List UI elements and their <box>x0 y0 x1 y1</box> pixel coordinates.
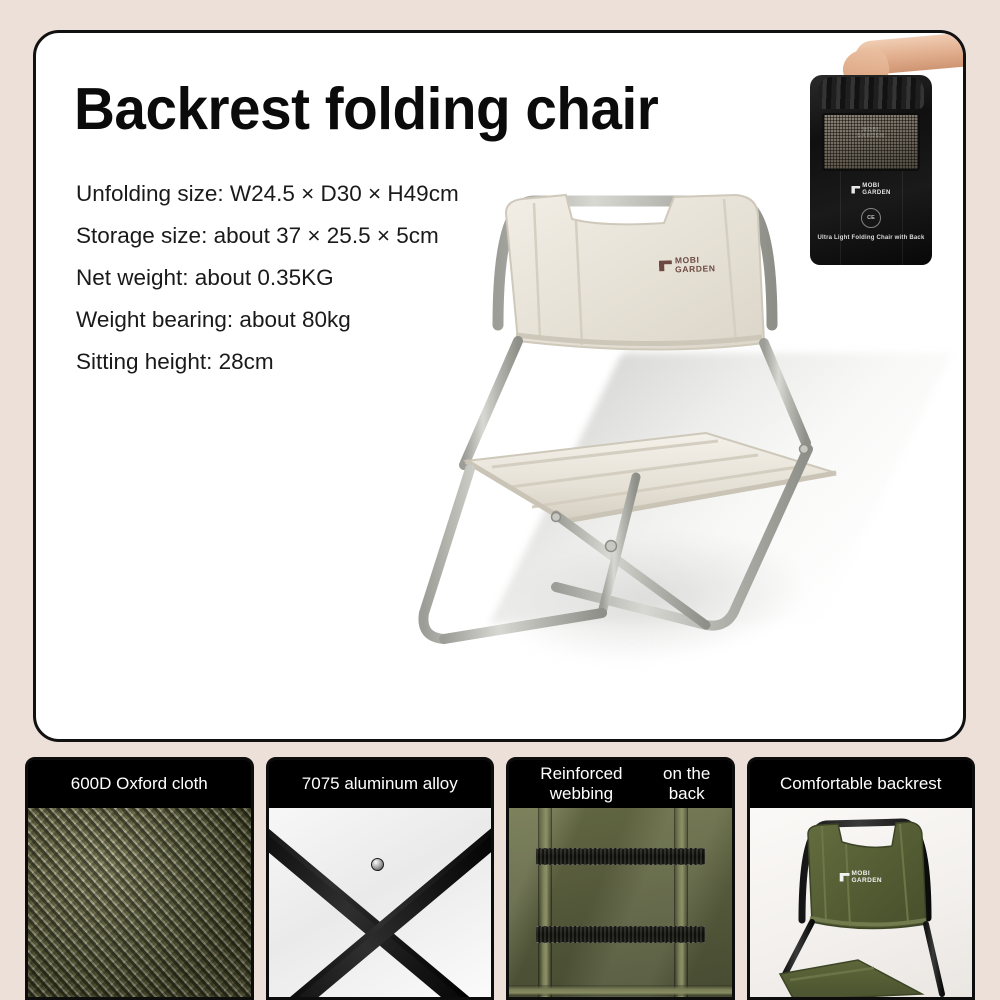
chair-brand-logo: MOBI GARDEN <box>659 255 716 274</box>
rivet-icon <box>371 858 384 871</box>
panel-oxford-cloth: 600D Oxford cloth <box>25 757 254 1000</box>
panel-label-line1: Reinforced webbing <box>515 764 648 804</box>
badge-text: CE <box>867 215 875 221</box>
weave-shading <box>28 808 251 1000</box>
mobi-garden-mark-icon <box>839 873 849 882</box>
chair-brand-line2: GARDEN <box>675 263 716 274</box>
backrest-brand-line2: GARDEN <box>851 877 882 884</box>
storage-bag-inset: MOBI GARDEN MOBI GARDEN CE Ultra Light F… <box>803 33 963 283</box>
backrest-brand-text: MOBI GARDEN <box>851 870 882 884</box>
chair-brand-text: MOBI GARDEN <box>675 255 716 274</box>
mobi-garden-mark-icon <box>851 186 860 194</box>
panel-aluminum-alloy: 7075 aluminum alloy <box>266 757 495 1000</box>
panel-media-comfortable-backrest: MOBI GARDEN <box>750 808 973 1000</box>
seam-vertical-left <box>538 808 552 1000</box>
storage-bag: MOBI GARDEN MOBI GARDEN CE Ultra Light F… <box>810 75 932 265</box>
bag-seam-right <box>902 171 903 283</box>
panel-label-aluminum-alloy: 7075 aluminum alloy <box>269 760 492 808</box>
bag-mesh-window: MOBI GARDEN <box>822 113 920 171</box>
panel-comfortable-backrest: Comfortable backrest <box>747 757 976 1000</box>
seam-vertical-right <box>674 808 688 1000</box>
backrest-brand-line1: MOBI <box>851 870 870 877</box>
panel-label-line2: on the back <box>648 764 726 804</box>
bag-brand-line1: MOBI <box>862 183 879 189</box>
infographic-root: Backrest folding chair Unfolding size: W… <box>0 0 1000 1000</box>
bag-brand-line2: GARDEN <box>862 190 890 196</box>
panel-reinforced-webbing: Reinforced webbing on the back <box>506 757 735 1000</box>
olive-chair-drawing <box>750 808 976 1000</box>
panel-media-reinforced-webbing <box>509 808 732 1000</box>
hero-card: Backrest folding chair Unfolding size: W… <box>33 30 966 742</box>
seam-horizontal-bottom <box>509 985 732 996</box>
panel-media-aluminum-alloy <box>269 808 492 1000</box>
bag-mesh-brand-text: MOBI GARDEN <box>848 127 895 139</box>
panel-label-oxford-cloth: 600D Oxford cloth <box>28 760 251 808</box>
bag-certification-badge: CE <box>861 208 881 228</box>
mobi-garden-mark-icon <box>659 260 672 271</box>
panel-label-reinforced-webbing: Reinforced webbing on the back <box>509 760 732 808</box>
bag-brand-logo: MOBI GARDEN <box>851 183 890 196</box>
bag-seam-left <box>840 171 841 283</box>
backrest-brand-logo: MOBI GARDEN <box>839 870 882 884</box>
webbing-strap-top <box>536 848 705 865</box>
aluminum-backdrop <box>269 808 492 1000</box>
webbing-strap-bottom <box>536 926 705 943</box>
page-title: Backrest folding chair <box>74 75 658 143</box>
panel-media-oxford-cloth <box>28 808 251 1000</box>
bag-brand-text: MOBI GARDEN <box>862 183 890 196</box>
bag-tagline: Ultra Light Folding Chair with Back <box>817 235 924 241</box>
feature-panels: 600D Oxford cloth 7075 aluminum alloy Re… <box>25 757 975 1000</box>
bag-drawstring-top <box>818 77 924 109</box>
panel-label-comfortable-backrest: Comfortable backrest <box>750 760 973 808</box>
